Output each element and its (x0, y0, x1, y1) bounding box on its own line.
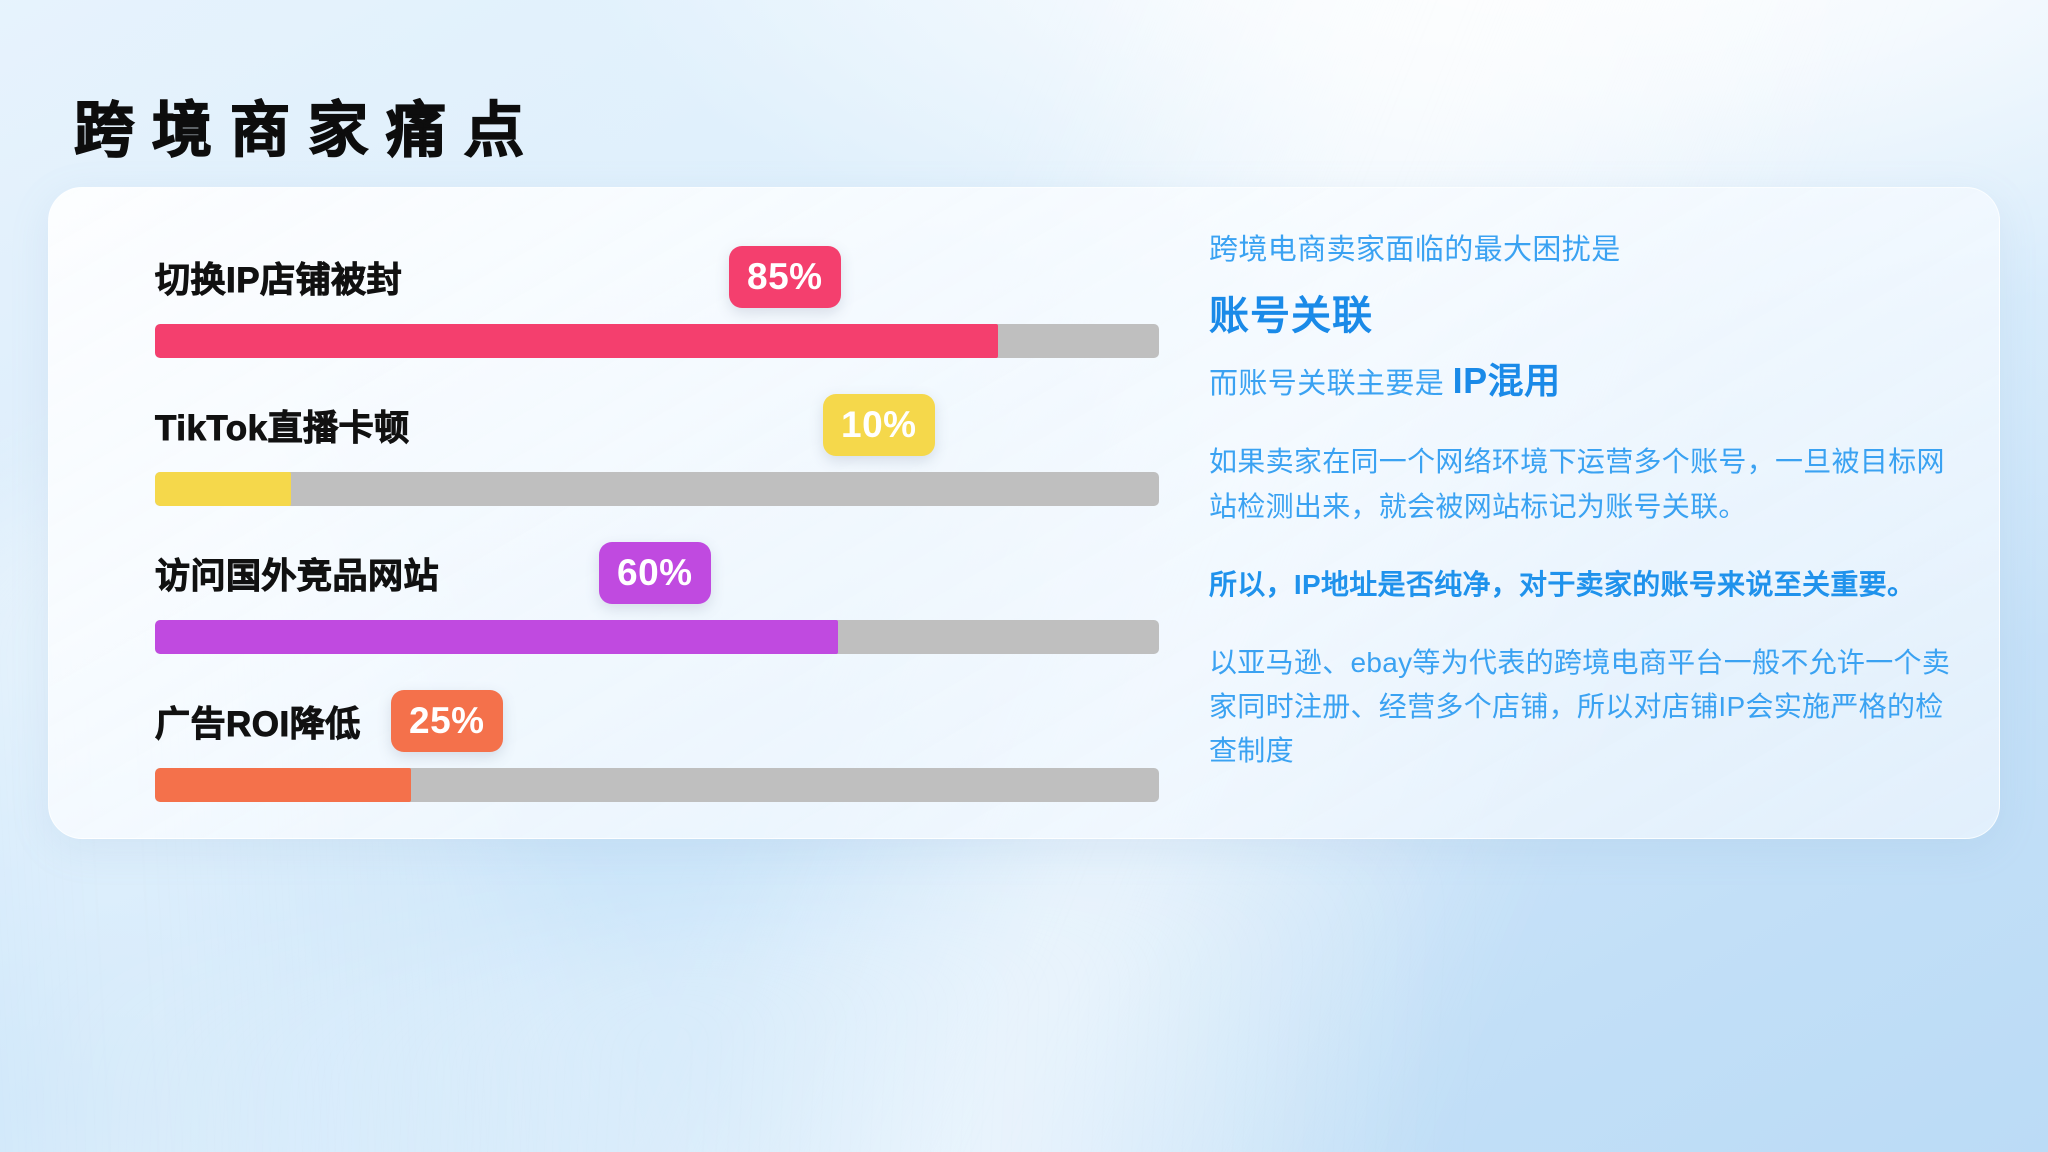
bar-value-badge: 60% (599, 542, 711, 604)
copy-subline: 而账号关联主要是 IP混用 (1209, 355, 1969, 406)
slide-root: 跨境商家痛点 切换IP店铺被封 85% TikTok直播卡顿 10% (0, 0, 2048, 1152)
bar-fill (155, 768, 411, 802)
bar-track (155, 472, 1159, 506)
explanation-panel: 跨境电商卖家面临的最大困扰是 账号关联 而账号关联主要是 IP混用 如果卖家在同… (1209, 230, 1969, 800)
copy-subline-strong: IP混用 (1453, 360, 1561, 401)
bar-row: TikTok直播卡顿 10% (109, 394, 1171, 522)
bar-label: TikTok直播卡顿 (155, 400, 410, 451)
bar-row: 切换IP店铺被封 85% (109, 246, 1171, 374)
bar-header: 广告ROI降低 25% (109, 690, 1171, 762)
bar-fill (155, 324, 998, 358)
bar-header: 切换IP店铺被封 85% (109, 246, 1171, 318)
copy-paragraph-2: 所以，IP地址是否纯净，对于卖家的账号来说至关重要。 (1209, 563, 1969, 607)
bar-row: 访问国外竞品网站 60% (109, 542, 1171, 670)
bar-value-badge: 85% (729, 246, 841, 308)
copy-lead: 跨境电商卖家面临的最大困扰是 (1209, 230, 1969, 271)
background-light-streak-bottom (40, 822, 1580, 1152)
bar-header: TikTok直播卡顿 10% (109, 394, 1171, 466)
page-title: 跨境商家痛点 (74, 98, 542, 164)
bar-label: 切换IP店铺被封 (155, 252, 402, 303)
bar-value-badge: 25% (391, 690, 503, 752)
bar-track (155, 768, 1159, 802)
bar-track (155, 324, 1159, 358)
copy-paragraph-1: 如果卖家在同一个网络环境下运营多个账号，一旦被目标网站检测出来，就会被网站标记为… (1209, 440, 1969, 528)
bar-fill (155, 472, 291, 506)
bar-label: 广告ROI降低 (155, 696, 361, 747)
bar-fill (155, 620, 838, 654)
pain-point-bar-chart: 切换IP店铺被封 85% TikTok直播卡顿 10% (109, 228, 1171, 800)
copy-keyword: 账号关联 (1209, 283, 1969, 341)
bar-label: 访问国外竞品网站 (155, 548, 439, 599)
bar-header: 访问国外竞品网站 60% (109, 542, 1171, 614)
copy-subline-prefix: 而账号关联主要是 (1209, 368, 1444, 400)
copy-paragraph-3: 以亚马逊、ebay等为代表的跨境电商平台一般不允许一个卖家同时注册、经营多个店铺… (1209, 641, 1969, 774)
bar-value-badge: 10% (823, 394, 935, 456)
bar-track (155, 620, 1159, 654)
content-card: 切换IP店铺被封 85% TikTok直播卡顿 10% (48, 187, 2000, 839)
bar-row: 广告ROI降低 25% (109, 690, 1171, 818)
